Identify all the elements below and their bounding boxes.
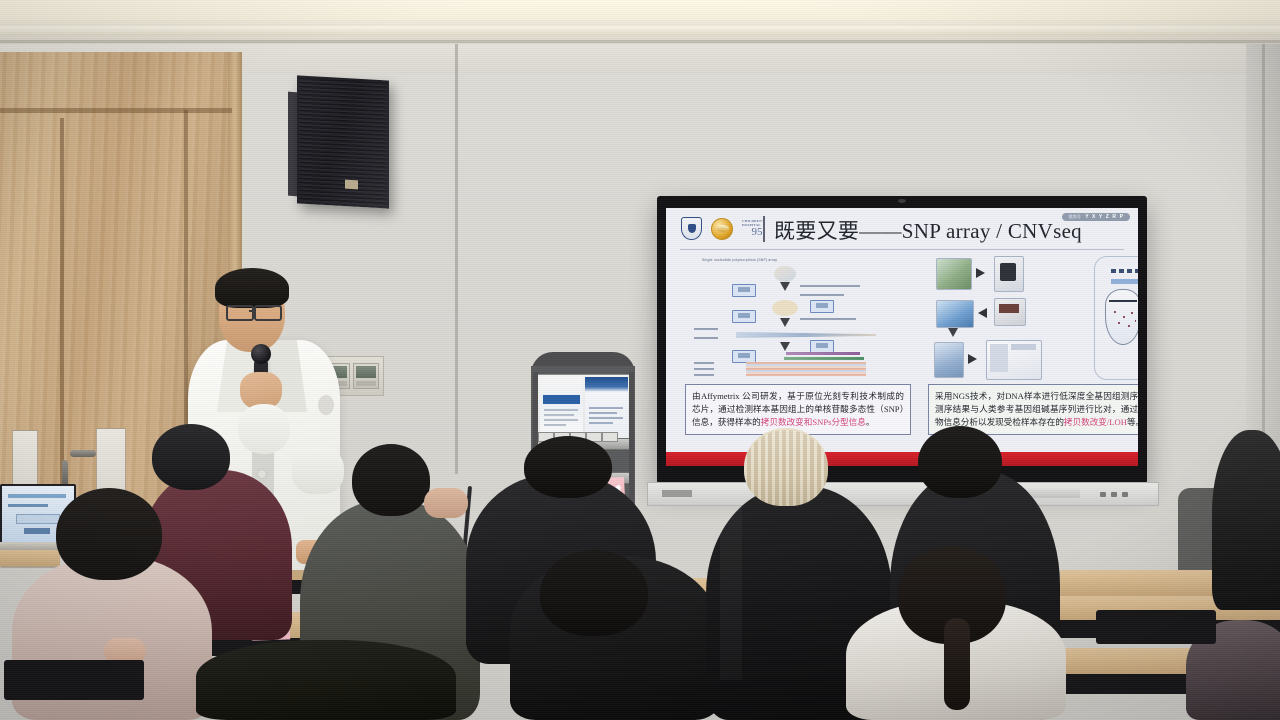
display-brand-logo [662,490,692,497]
lab-process-icons [930,256,1080,378]
audience-member-2-beanie [152,424,230,490]
slide-title: 既要又要——SNP array / CNVseq [774,215,1082,245]
audience-member-6-hair [540,550,648,636]
poster-left-band [543,395,580,404]
door-handle-bar[interactable] [70,450,96,457]
gold-medallion-logo [711,218,733,240]
eyeglasses-right-lens-icon [254,305,282,321]
audience-member-5-coat-seam [720,500,742,680]
presenter-hair [215,268,289,308]
audience-member-1-hair [56,488,162,580]
audience-member-3-hand [424,488,468,518]
desk-monitor-left[interactable] [4,660,144,700]
anniversary-logo: CHILDREN'S HOSPITAL 95 [742,219,772,239]
ceiling-edge-line [0,40,1280,43]
rack-leaflet-5[interactable] [602,432,618,442]
coat-shoulder-patch [318,395,334,415]
display-indicator-1 [1100,492,1106,497]
wall-seam [455,44,458,474]
scanner-icon [934,342,964,378]
slide-watermark: 视频号 Y X Y Z R P [1062,213,1130,221]
anniversary-logo-mark: 95 [752,227,763,238]
snp-array-workflow-diagram: Single nucleotide polymorphism (SNP) arr… [688,258,924,376]
eyeglasses-bridge-icon [249,310,255,312]
smart-display[interactable]: CHILDREN'S HOSPITAL 95 既要又要——SNP array /… [657,196,1147,484]
shield-crest-logo [681,217,702,240]
thermostat-buttons-right[interactable] [356,381,376,386]
ceiling-trim-strip [0,26,1280,36]
ceiling-light-cove [0,0,1280,20]
text-box-left-tail: 。 [866,417,875,427]
watermark-code: Y X Y Z R P [1085,214,1124,220]
thermostat-panel-right[interactable] [353,363,379,389]
sample-icon [936,258,972,290]
presenter-sleeve [238,404,290,454]
text-box-left: 由Affymetrix 公司研发，基于原位光刻专利技术制成的芯片，通过检测样本基… [685,384,911,435]
audience-member-8-head [918,426,1002,498]
hybridization-oven-icon [936,300,974,328]
slide-logo-group: CHILDREN'S HOSPITAL 95 [681,217,772,240]
coat-button-2 [258,470,266,478]
title-divider [763,216,765,242]
wall-corner-seam [1262,44,1265,464]
audience-member-right-edge [1212,430,1280,610]
door-header-line [0,108,232,113]
presenter-forearm [292,448,344,494]
slide-red-footer-band [666,452,1138,466]
presentation-slide: CHILDREN'S HOSPITAL 95 既要又要——SNP array /… [666,208,1138,466]
lecture-room-photo: CHILDREN'S HOSPITAL 95 既要又要——SNP array /… [0,0,1280,720]
anniversary-logo-top: CHILDREN'S HOSPITAL [742,219,772,228]
text-box-left-highlight: 拷贝数改变和SNPs分型信息 [761,417,866,427]
audience-member-9-body [196,640,456,720]
desk-monitor-right[interactable] [1096,610,1216,644]
text-box-right-tail: 等。 [1127,417,1138,427]
display-indicator-2 [1111,492,1117,497]
audience-member-3-head [352,444,430,516]
poster-right [585,377,628,439]
audience-member-4-head [524,436,612,498]
poster-left [540,377,583,439]
diagram-left-caption: Single nucleotide polymorphism (SNP) arr… [702,258,777,262]
text-box-right-highlight: 拷贝数改变/LOH [1064,417,1127,427]
title-underline [680,249,1124,250]
cnvseq-principle-diagram: Normal Deletion/duplication [1094,256,1138,380]
watermark-prefix: 视频号 [1068,214,1081,220]
speaker-brand-badge [345,180,358,190]
sample-tube-icon [1105,289,1138,345]
display-camera-icon [898,199,906,203]
beanie-knit-texture [744,430,828,506]
microphone-head[interactable] [251,344,271,364]
display-indicator-3 [1122,492,1128,497]
thermostat-screen-right [356,366,376,378]
eyeglasses-left-lens-icon [226,305,254,321]
wall-speaker [297,75,389,208]
audience-member-7-ponytail [944,618,970,710]
display-screen[interactable]: CHILDREN'S HOSPITAL 95 既要又要——SNP array /… [666,208,1138,466]
desk-far-left [0,548,60,566]
